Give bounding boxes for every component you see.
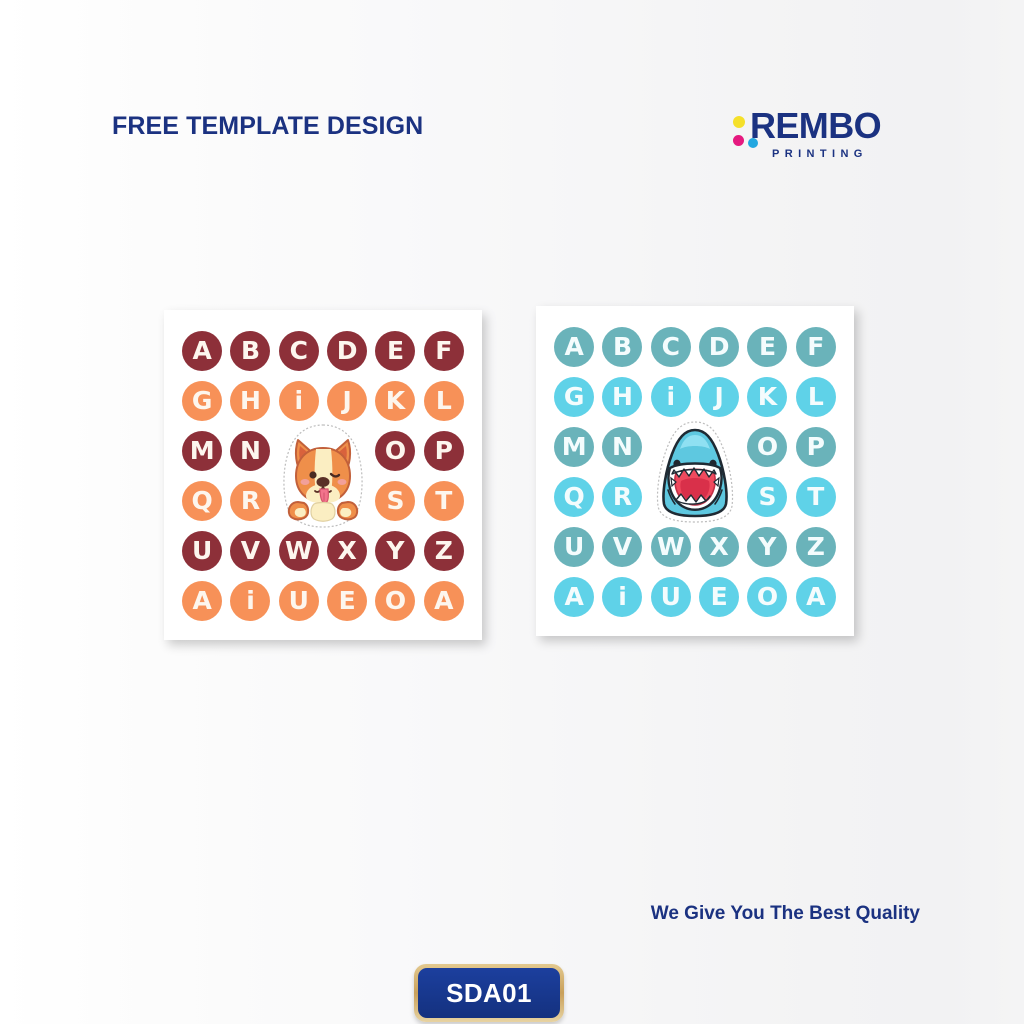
letter-bubble-w: W [279, 531, 319, 571]
letter-bubble-z: Z [796, 527, 836, 567]
letter-cell: Y [743, 522, 791, 572]
letter-cell: Q [178, 476, 226, 526]
letter-cell: P [420, 426, 468, 476]
letter-cell: D [323, 326, 371, 376]
letter-bubble-k: K [375, 381, 415, 421]
letter-cell: H [598, 372, 646, 422]
letter-cell: N [226, 426, 274, 476]
letter-bubble-d: D [699, 327, 739, 367]
letter-bubble-s: S [747, 477, 787, 517]
letter-bubble-w: W [651, 527, 691, 567]
letter-bubble-p: P [796, 427, 836, 467]
letter-cell: M [178, 426, 226, 476]
letter-cell: Z [420, 526, 468, 576]
letter-cell: i [647, 372, 695, 422]
letter-cell: A [550, 322, 598, 372]
letter-bubble-j: J [699, 377, 739, 417]
letter-cell: O [743, 422, 791, 472]
letter-cell: E [695, 572, 743, 622]
letter-cell: V [226, 526, 274, 576]
letter-cell: K [371, 376, 419, 426]
letter-bubble-n: N [602, 427, 642, 467]
letter-cell: U [647, 572, 695, 622]
tagline: We Give You The Best Quality [651, 903, 920, 925]
letter-bubble-a: A [182, 331, 222, 371]
letter-bubble-m: M [554, 427, 594, 467]
letter-bubble-v: V [230, 531, 270, 571]
letter-cell: U [275, 576, 323, 626]
letter-cell: Y [371, 526, 419, 576]
letter-bubble-r: R [602, 477, 642, 517]
letter-bubble-e: E [327, 581, 367, 621]
letter-bubble-o: O [375, 581, 415, 621]
letter-cell: B [226, 326, 274, 376]
letter-cell: T [420, 476, 468, 526]
letter-bubble-r: R [230, 481, 270, 521]
letter-cell: S [743, 472, 791, 522]
letter-cell: i [275, 376, 323, 426]
letter-cell: U [178, 526, 226, 576]
letter-cell: Z [792, 522, 840, 572]
letter-bubble-f: F [424, 331, 464, 371]
sheet-code-label: SDA01 [418, 968, 560, 1018]
letter-bubble-y: Y [747, 527, 787, 567]
letter-bubble-l: L [424, 381, 464, 421]
letter-bubble-x: X [327, 531, 367, 571]
letter-bubble-t: T [424, 481, 464, 521]
letter-cell: R [226, 476, 274, 526]
letter-cell: F [420, 326, 468, 376]
letter-bubble-b: B [230, 331, 270, 371]
logo-dot-yellow-icon [733, 116, 745, 128]
letter-bubble-u: U [182, 531, 222, 571]
letter-bubble-q: Q [554, 477, 594, 517]
letter-cell: J [695, 372, 743, 422]
letter-bubble-d: D [327, 331, 367, 371]
sticker-sheet-sda01[interactable]: ABCDEFGHiJKLMNOPQRSTUVWXYZAiUEOA [164, 310, 482, 640]
letter-cell: C [275, 326, 323, 376]
letter-bubble-h: H [230, 381, 270, 421]
letter-cell: N [598, 422, 646, 472]
letter-cell: G [178, 376, 226, 426]
letter-bubble-e: E [747, 327, 787, 367]
letter-cell: X [323, 526, 371, 576]
letter-cell: E [743, 322, 791, 372]
letter-bubble-x: X [699, 527, 739, 567]
sticker-sheet-sda02[interactable]: ABCDEFGHiJKLMNOPQRSTUVWXYZAiUEOA [536, 306, 854, 636]
letter-bubble-j: J [327, 381, 367, 421]
letter-bubble-a: A [554, 577, 594, 617]
letter-bubble-o: O [747, 577, 787, 617]
letter-cell: X [695, 522, 743, 572]
letter-bubble-y: Y [375, 531, 415, 571]
letter-cell: O [371, 426, 419, 476]
letter-cell: B [598, 322, 646, 372]
logo-wordmark: REMBO [750, 104, 881, 148]
letter-cell: W [275, 526, 323, 576]
letter-bubble-u: U [554, 527, 594, 567]
letter-cell: A [550, 572, 598, 622]
letter-bubble-o: O [747, 427, 787, 467]
letter-cell: E [323, 576, 371, 626]
letter-bubble-u: U [279, 581, 319, 621]
letter-cell: T [792, 472, 840, 522]
letter-cell: i [226, 576, 274, 626]
letter-cell: A [178, 576, 226, 626]
letter-bubble-g: G [554, 377, 594, 417]
letter-bubble-z: Z [424, 531, 464, 571]
letter-cell: F [792, 322, 840, 372]
letter-cell: C [647, 322, 695, 372]
letter-bubble-e: E [699, 577, 739, 617]
letter-cell: M [550, 422, 598, 472]
letter-bubble-c: C [279, 331, 319, 371]
letter-bubble-k: K [747, 377, 787, 417]
letter-bubble-f: F [796, 327, 836, 367]
letter-bubble-h: H [602, 377, 642, 417]
letter-cell: O [743, 572, 791, 622]
letter-bubble-m: M [182, 431, 222, 471]
rembo-logo: REMBO PRINTING [724, 104, 924, 176]
letter-cell: U [550, 522, 598, 572]
letter-cell: i [598, 572, 646, 622]
letter-cell: K [743, 372, 791, 422]
sheet-card: ABCDEFGHiJKLMNOPQRSTUVWXYZAiUEOA [536, 306, 854, 636]
letter-grid: ABCDEFGHiJKLMNOPQRSTUVWXYZAiUEOA [550, 322, 840, 622]
letter-cell: A [178, 326, 226, 376]
letter-bubble-v: V [602, 527, 642, 567]
letter-cell: L [792, 372, 840, 422]
letter-cell: V [598, 522, 646, 572]
letter-cell: J [323, 376, 371, 426]
logo-dot-magenta-icon [733, 135, 744, 146]
letter-bubble-g: G [182, 381, 222, 421]
shark-sticker-icon [648, 418, 742, 526]
sheet-code-badge-sda01[interactable]: SDA01 [414, 964, 564, 1022]
letter-bubble-a: A [554, 327, 594, 367]
letter-cell: D [695, 322, 743, 372]
letter-cell: H [226, 376, 274, 426]
letter-cell: R [598, 472, 646, 522]
letter-bubble-n: N [230, 431, 270, 471]
letter-bubble-p: P [424, 431, 464, 471]
logo-subtext: PRINTING [772, 148, 868, 160]
page-header: FREE TEMPLATE DESIGN REMBO PRINTING [0, 104, 1024, 174]
letter-cell: Q [550, 472, 598, 522]
letter-bubble-i: i [230, 581, 270, 621]
letter-bubble-a: A [182, 581, 222, 621]
letter-grid: ABCDEFGHiJKLMNOPQRSTUVWXYZAiUEOA [178, 326, 468, 626]
letter-cell: E [371, 326, 419, 376]
letter-bubble-b: B [602, 327, 642, 367]
letter-bubble-c: C [651, 327, 691, 367]
letter-bubble-i: i [602, 577, 642, 617]
letter-cell: W [647, 522, 695, 572]
letter-cell: A [420, 576, 468, 626]
letter-bubble-i: i [651, 377, 691, 417]
sheet-card: ABCDEFGHiJKLMNOPQRSTUVWXYZAiUEOA [164, 310, 482, 640]
letter-bubble-q: Q [182, 481, 222, 521]
letter-cell: O [371, 576, 419, 626]
letter-cell: G [550, 372, 598, 422]
letter-bubble-u: U [651, 577, 691, 617]
letter-bubble-e: E [375, 331, 415, 371]
letter-cell: S [371, 476, 419, 526]
letter-cell: P [792, 422, 840, 472]
corgi-dog-sticker-icon [276, 422, 370, 530]
letter-bubble-o: O [375, 431, 415, 471]
letter-cell: A [792, 572, 840, 622]
letter-bubble-i: i [279, 381, 319, 421]
letter-bubble-s: S [375, 481, 415, 521]
mascot-sticker-slot [647, 422, 744, 522]
letter-cell: L [420, 376, 468, 426]
letter-bubble-t: T [796, 477, 836, 517]
letter-bubble-l: L [796, 377, 836, 417]
page-title: FREE TEMPLATE DESIGN [112, 112, 423, 141]
letter-bubble-a: A [424, 581, 464, 621]
mascot-sticker-slot [275, 426, 372, 526]
letter-bubble-a: A [796, 577, 836, 617]
